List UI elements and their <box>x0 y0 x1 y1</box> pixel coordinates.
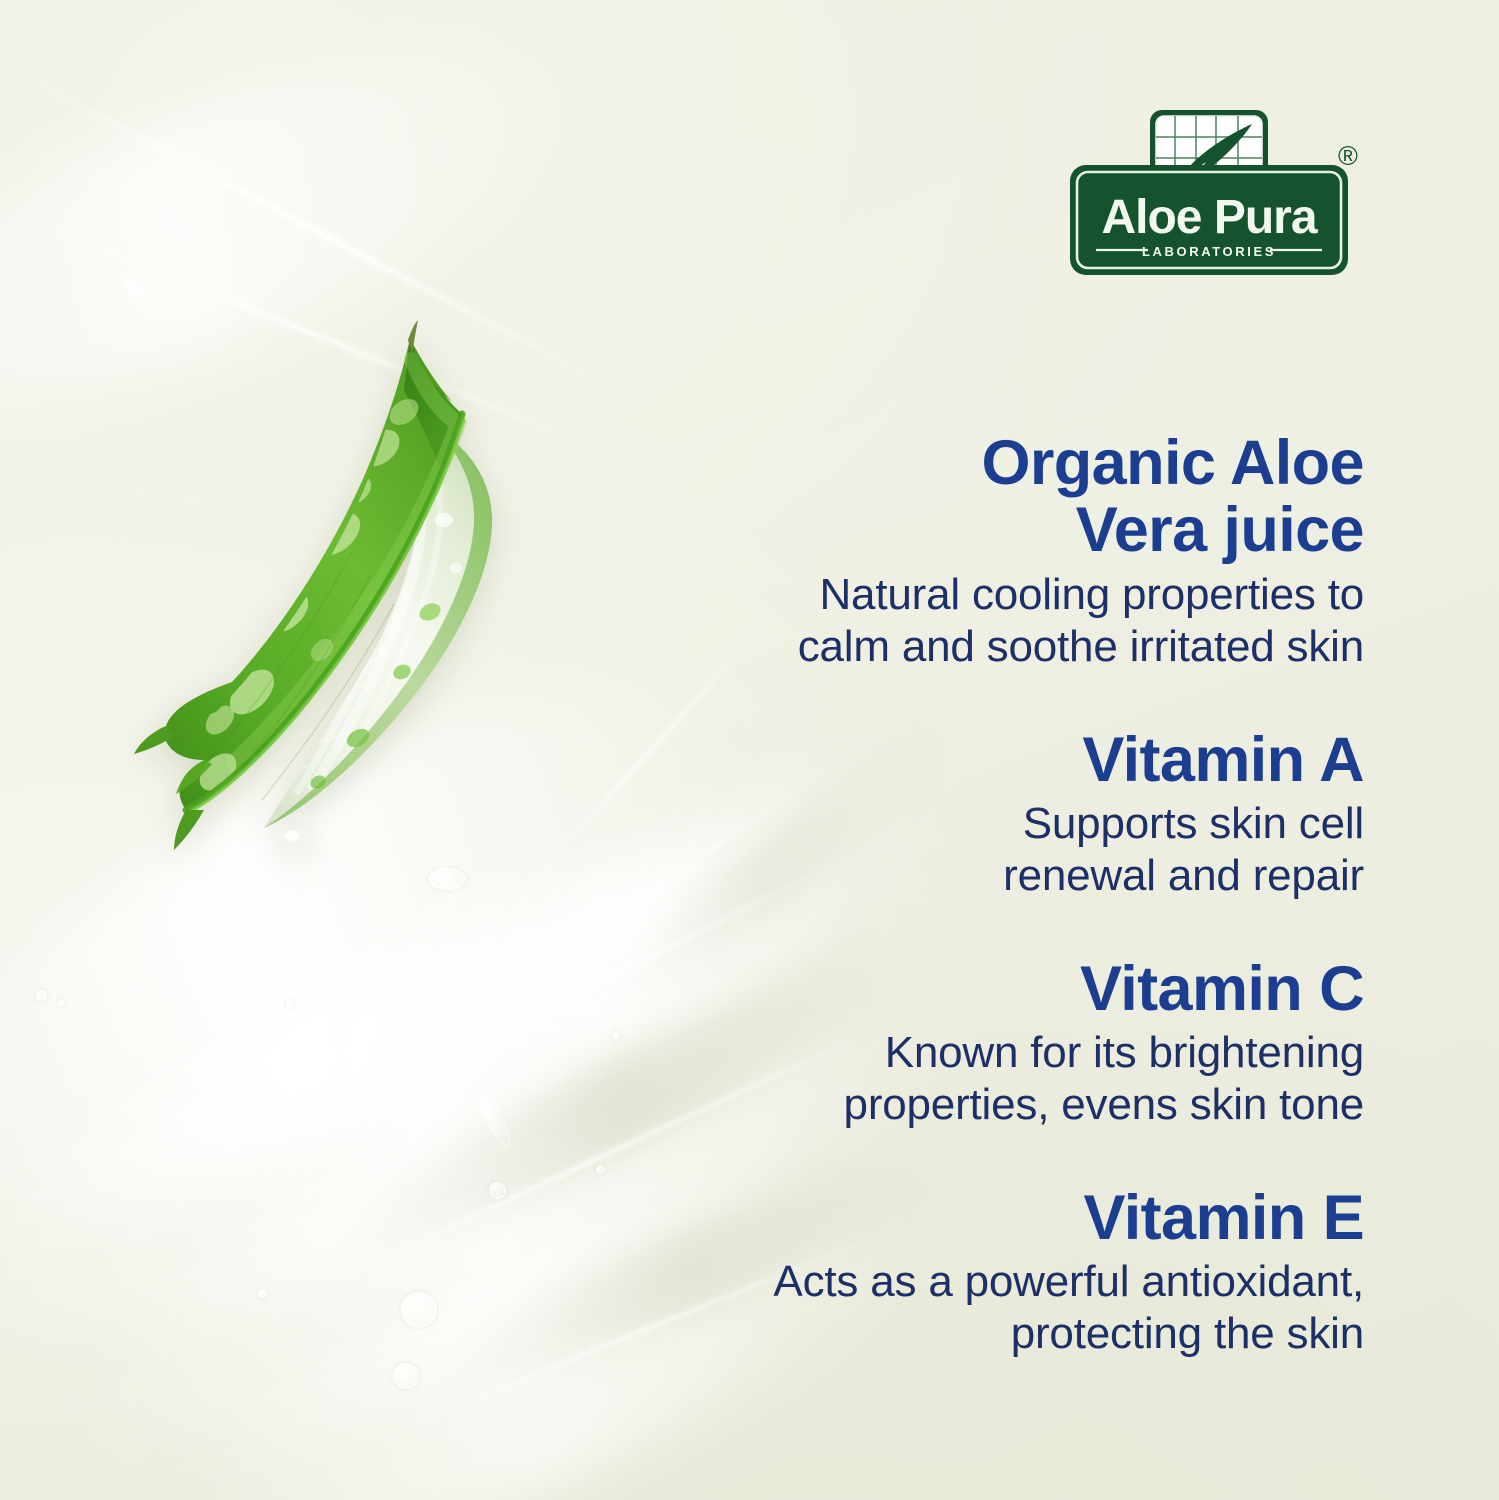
benefit-item-organic-aloe-vera-juice: Organic Aloe Vera juice Natural cooling … <box>640 430 1364 673</box>
benefit-heading: Organic Aloe Vera juice <box>640 430 1364 565</box>
benefit-item-vitamin-c: Vitamin C Known for its brightening prop… <box>640 956 1364 1131</box>
aloe-pura-logo: ® Aloe Pura LABORATORIES <box>1070 110 1370 290</box>
benefit-heading: Vitamin A <box>640 727 1364 794</box>
benefit-description: Supports skin cell renewal and repair <box>640 798 1364 902</box>
gel-bubble <box>36 990 47 1001</box>
aloe-leaf-slice <box>112 320 592 850</box>
gel-bubble <box>401 1292 437 1328</box>
logo-wordmark-badge: Aloe Pura LABORATORIES <box>1070 165 1348 275</box>
svg-text:LABORATORIES: LABORATORIES <box>1142 244 1276 259</box>
benefit-item-vitamin-a: Vitamin A Supports skin cell renewal and… <box>640 727 1364 902</box>
benefit-description: Known for its brightening properties, ev… <box>640 1027 1364 1131</box>
gel-bubble <box>393 1363 419 1389</box>
gel-bubble <box>286 1000 294 1008</box>
benefit-heading: Vitamin C <box>640 956 1364 1023</box>
benefits-list: Organic Aloe Vera juice Natural cooling … <box>640 430 1364 1360</box>
benefit-description: Natural cooling properties to calm and s… <box>640 569 1364 673</box>
product-benefits-infographic: ® Aloe Pura LABORATORIES Organic Aloe Ve… <box>0 0 1499 1500</box>
gel-bubble <box>596 1165 605 1174</box>
gel-bubble <box>489 1182 506 1199</box>
gel-bubble <box>58 1000 65 1007</box>
gel-bubble <box>612 1032 619 1039</box>
benefit-description: Acts as a powerful antioxidant, protecti… <box>640 1256 1364 1360</box>
gel-bubble <box>258 1289 267 1298</box>
benefit-heading: Vitamin E <box>640 1185 1364 1252</box>
svg-text:Aloe Pura: Aloe Pura <box>1101 191 1317 244</box>
benefit-item-vitamin-e: Vitamin E Acts as a powerful antioxidant… <box>640 1185 1364 1360</box>
